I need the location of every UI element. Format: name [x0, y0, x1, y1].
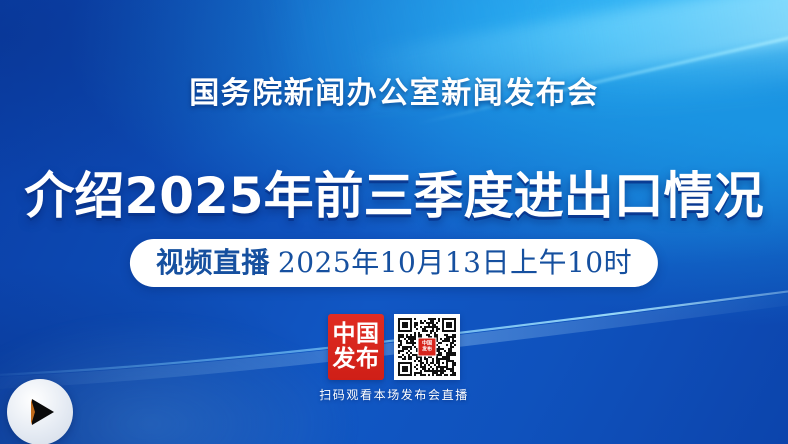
qr-code[interactable]: 中国 发布 [394, 314, 460, 380]
broadcast-datetime: 2025年10月13日上午10时 [278, 246, 632, 279]
scan-instruction-caption: 扫码观看本场发布会直播 [0, 386, 788, 403]
play-button[interactable] [7, 379, 73, 444]
play-icon [32, 399, 54, 425]
brand-and-qr-row: 中国 发布 中国 发布 [328, 314, 460, 380]
broadcast-time-text: 视频直播2025年10月13日上午10时 [156, 249, 632, 277]
page-title: 介绍2025年前三季度进出口情况 [0, 156, 788, 228]
organizer-title: 国务院新闻办公室新闻发布会 [0, 68, 788, 112]
qr-center-badge: 中国 发布 [418, 338, 437, 357]
broadcast-poster: 国务院新闻办公室新闻发布会 介绍2025年前三季度进出口情况 视频直播2025年… [0, 0, 788, 444]
broadcast-time-badge: 视频直播2025年10月13日上午10时 [130, 239, 658, 287]
qr-badge-line-two: 发布 [422, 347, 432, 352]
china-release-logo: 中国 发布 [328, 314, 384, 380]
broadcast-label: 视频直播 [156, 246, 270, 279]
logo-line-two: 发布 [333, 347, 380, 372]
logo-line-one: 中国 [333, 322, 380, 347]
